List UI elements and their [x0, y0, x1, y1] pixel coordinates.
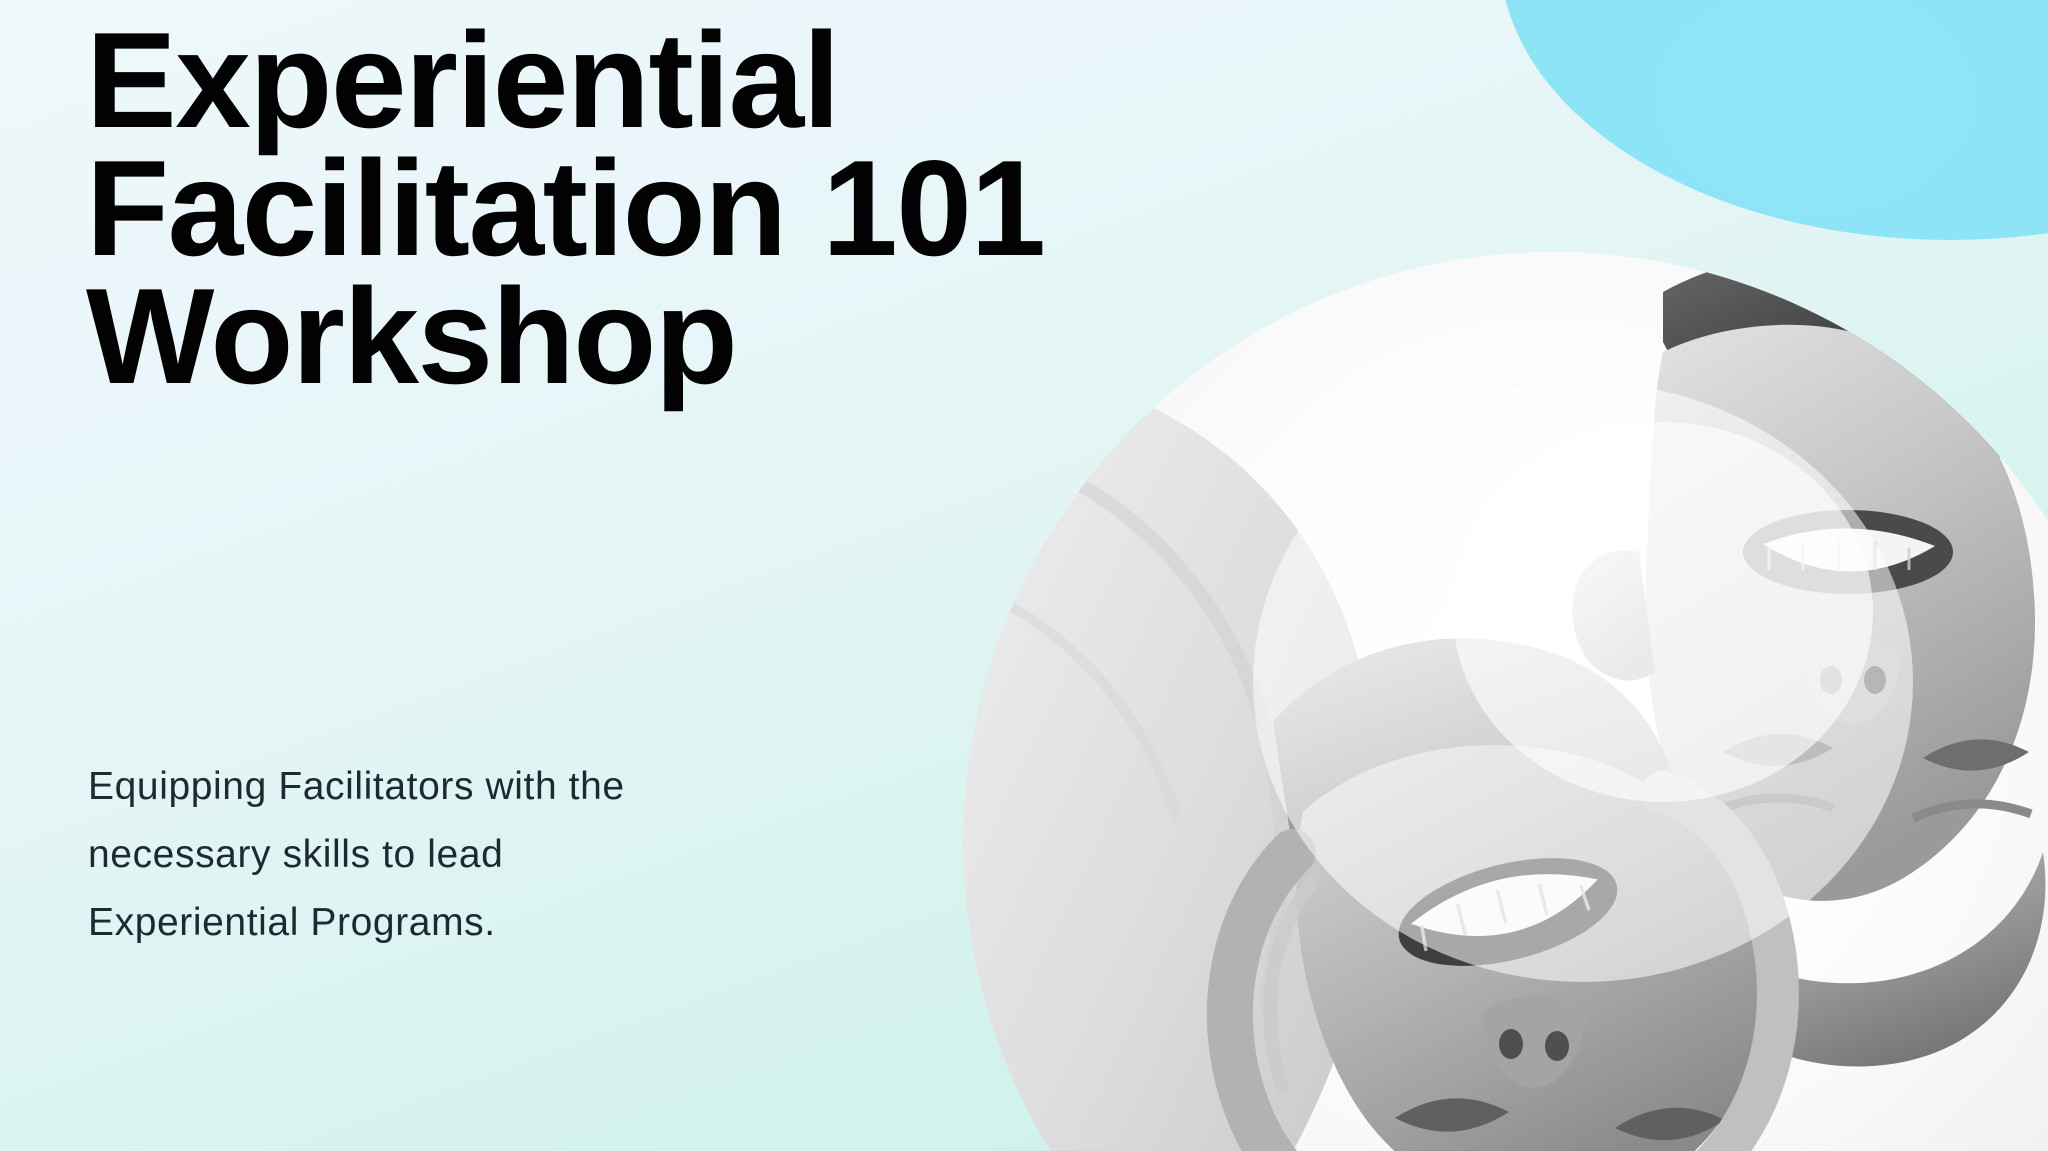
slide-canvas: Experiential Facilitation 101 Workshop E…	[0, 0, 2048, 1151]
decorative-cyan-circle	[1500, 0, 2048, 240]
subtitle-text: Equipping Facilitators with the necessar…	[88, 753, 878, 957]
huddle-photo-image	[963, 252, 2048, 1151]
hero-photo-circle	[963, 252, 2048, 1151]
